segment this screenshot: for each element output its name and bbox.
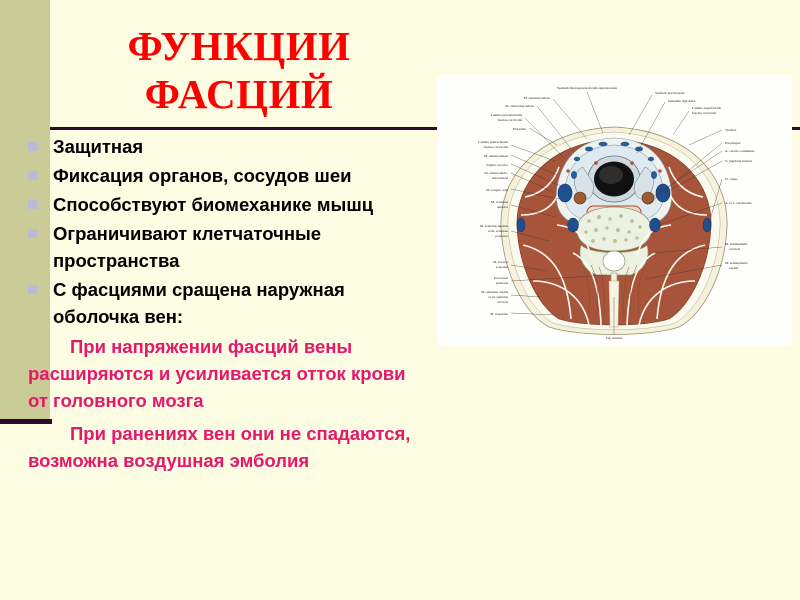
list-item-label: Ограничивают клетчаточные пространства (53, 220, 428, 274)
highlight-paragraph-2: При ранениях вен они не спадаются, возмо… (28, 420, 420, 474)
list-item: Фиксация органов, сосудов шеи (28, 162, 428, 189)
carotid-artery-left (574, 192, 586, 204)
presentation-slide: ФУНКЦИИ ФАСЦИЙ Защитная Фиксация органов… (0, 0, 800, 600)
vertebral-vessels-right (650, 218, 661, 232)
figure-label: spinosus (496, 281, 509, 285)
figure-label: cervicis (497, 300, 509, 304)
figure-label: anterior (497, 205, 509, 209)
figure-label: Spatium interaponeuroticum suprasternale (557, 86, 618, 90)
figure-label: posterior (495, 234, 508, 238)
figure-label: N. vagus (725, 177, 738, 181)
figure-label: M. scalenus medius (480, 224, 509, 228)
figure-label: fasciae cervicalis (498, 118, 523, 122)
square-bullet-icon (28, 229, 37, 238)
carotid-artery-right (642, 192, 654, 204)
figure-label: M. sternothyroideus (505, 104, 534, 108)
list-item-label: Фиксация органов, сосудов шеи (53, 162, 428, 189)
highlight-paragraph-1: При напряжении фасций вены расширяются и… (28, 333, 420, 414)
list-item: Защитная (28, 133, 428, 160)
external-vein-left (517, 218, 525, 232)
figure-label: Lamina pretrachealis (478, 140, 508, 144)
figure-label: M. semispinalis (725, 261, 748, 265)
list-item: С фасциями сращена наружная оболочка вен… (28, 276, 428, 330)
square-bullet-icon (28, 200, 37, 209)
square-bullet-icon (28, 285, 37, 294)
figure-label: Platysma (513, 127, 526, 131)
figure-label: A. carotis communis (725, 149, 755, 153)
figure-label: M. scalenus (491, 200, 509, 204)
square-bullet-icon (28, 171, 37, 180)
figure-label: M. splenius capitis (481, 290, 508, 294)
figure-label: M. levator (493, 260, 509, 264)
figure-label: Spatium previscerale (655, 91, 685, 95)
figure-label: scapulae (496, 265, 509, 269)
spinal-canal (603, 251, 625, 271)
list-item: Ограничивают клетчаточные пространства (28, 220, 428, 274)
anatomy-diagram: Spatium interaponeuroticum suprasternale… (437, 75, 792, 345)
figure-label: M. semispinalis (725, 242, 748, 246)
figure-label: M. longus colli (486, 188, 508, 192)
square-bullet-icon (28, 142, 37, 151)
figure-label: M. trapezius (490, 312, 508, 316)
figure-label: M. omohyoideus (484, 154, 509, 158)
figure-label: M. sternocleido- (485, 171, 509, 175)
figure-label: fasciae cervicalis (484, 145, 509, 149)
figure-label: V. jugularis interna (725, 159, 752, 163)
page-title: ФУНКЦИИ ФАСЦИЙ (52, 22, 426, 118)
neck-cross-section-illustration: Spatium interaponeuroticum suprasternale… (437, 75, 792, 345)
figure-label: Processus (494, 276, 509, 280)
figure-label: A. et v. vertebrales (725, 201, 752, 205)
figure-label: et m. splenius (488, 295, 508, 299)
figure-label: Glandula thyroidea (668, 99, 696, 103)
figure-label: Lamina superficialis (692, 106, 722, 110)
trachea-lumen-highlight (599, 166, 623, 184)
figure-label: Esophagus (725, 141, 741, 145)
figure-label: fasciae cervicalis (692, 111, 717, 115)
list-item-label: Способствуют биомеханике мышц (53, 191, 428, 218)
figure-caption: Lig. nuchae (606, 336, 623, 340)
figure-label: mastoideus (492, 176, 509, 180)
figure-label: capitis (729, 266, 739, 270)
list-item-label: С фасциями сращена наружная оболочка вен… (53, 276, 428, 330)
figure-label: cervicis (729, 247, 741, 251)
figure-label: Vagina carotica (486, 163, 508, 167)
figure-label: M. sternohyoideus (524, 96, 551, 100)
jugular-vein-left (558, 184, 572, 202)
vertebral-body (577, 207, 651, 251)
list-item: Способствуют биомеханике мышц (28, 191, 428, 218)
jugular-vein-right (656, 184, 670, 202)
figure-label: et m. scalenus (488, 229, 509, 233)
vertebral-vessels-left (568, 218, 579, 232)
list-item-label: Защитная (53, 133, 428, 160)
figure-label: Lamina prevertebralis (491, 113, 523, 117)
figure-label: Trachea (725, 128, 737, 132)
bullet-list: Защитная Фиксация органов, сосудов шеи С… (28, 133, 428, 474)
